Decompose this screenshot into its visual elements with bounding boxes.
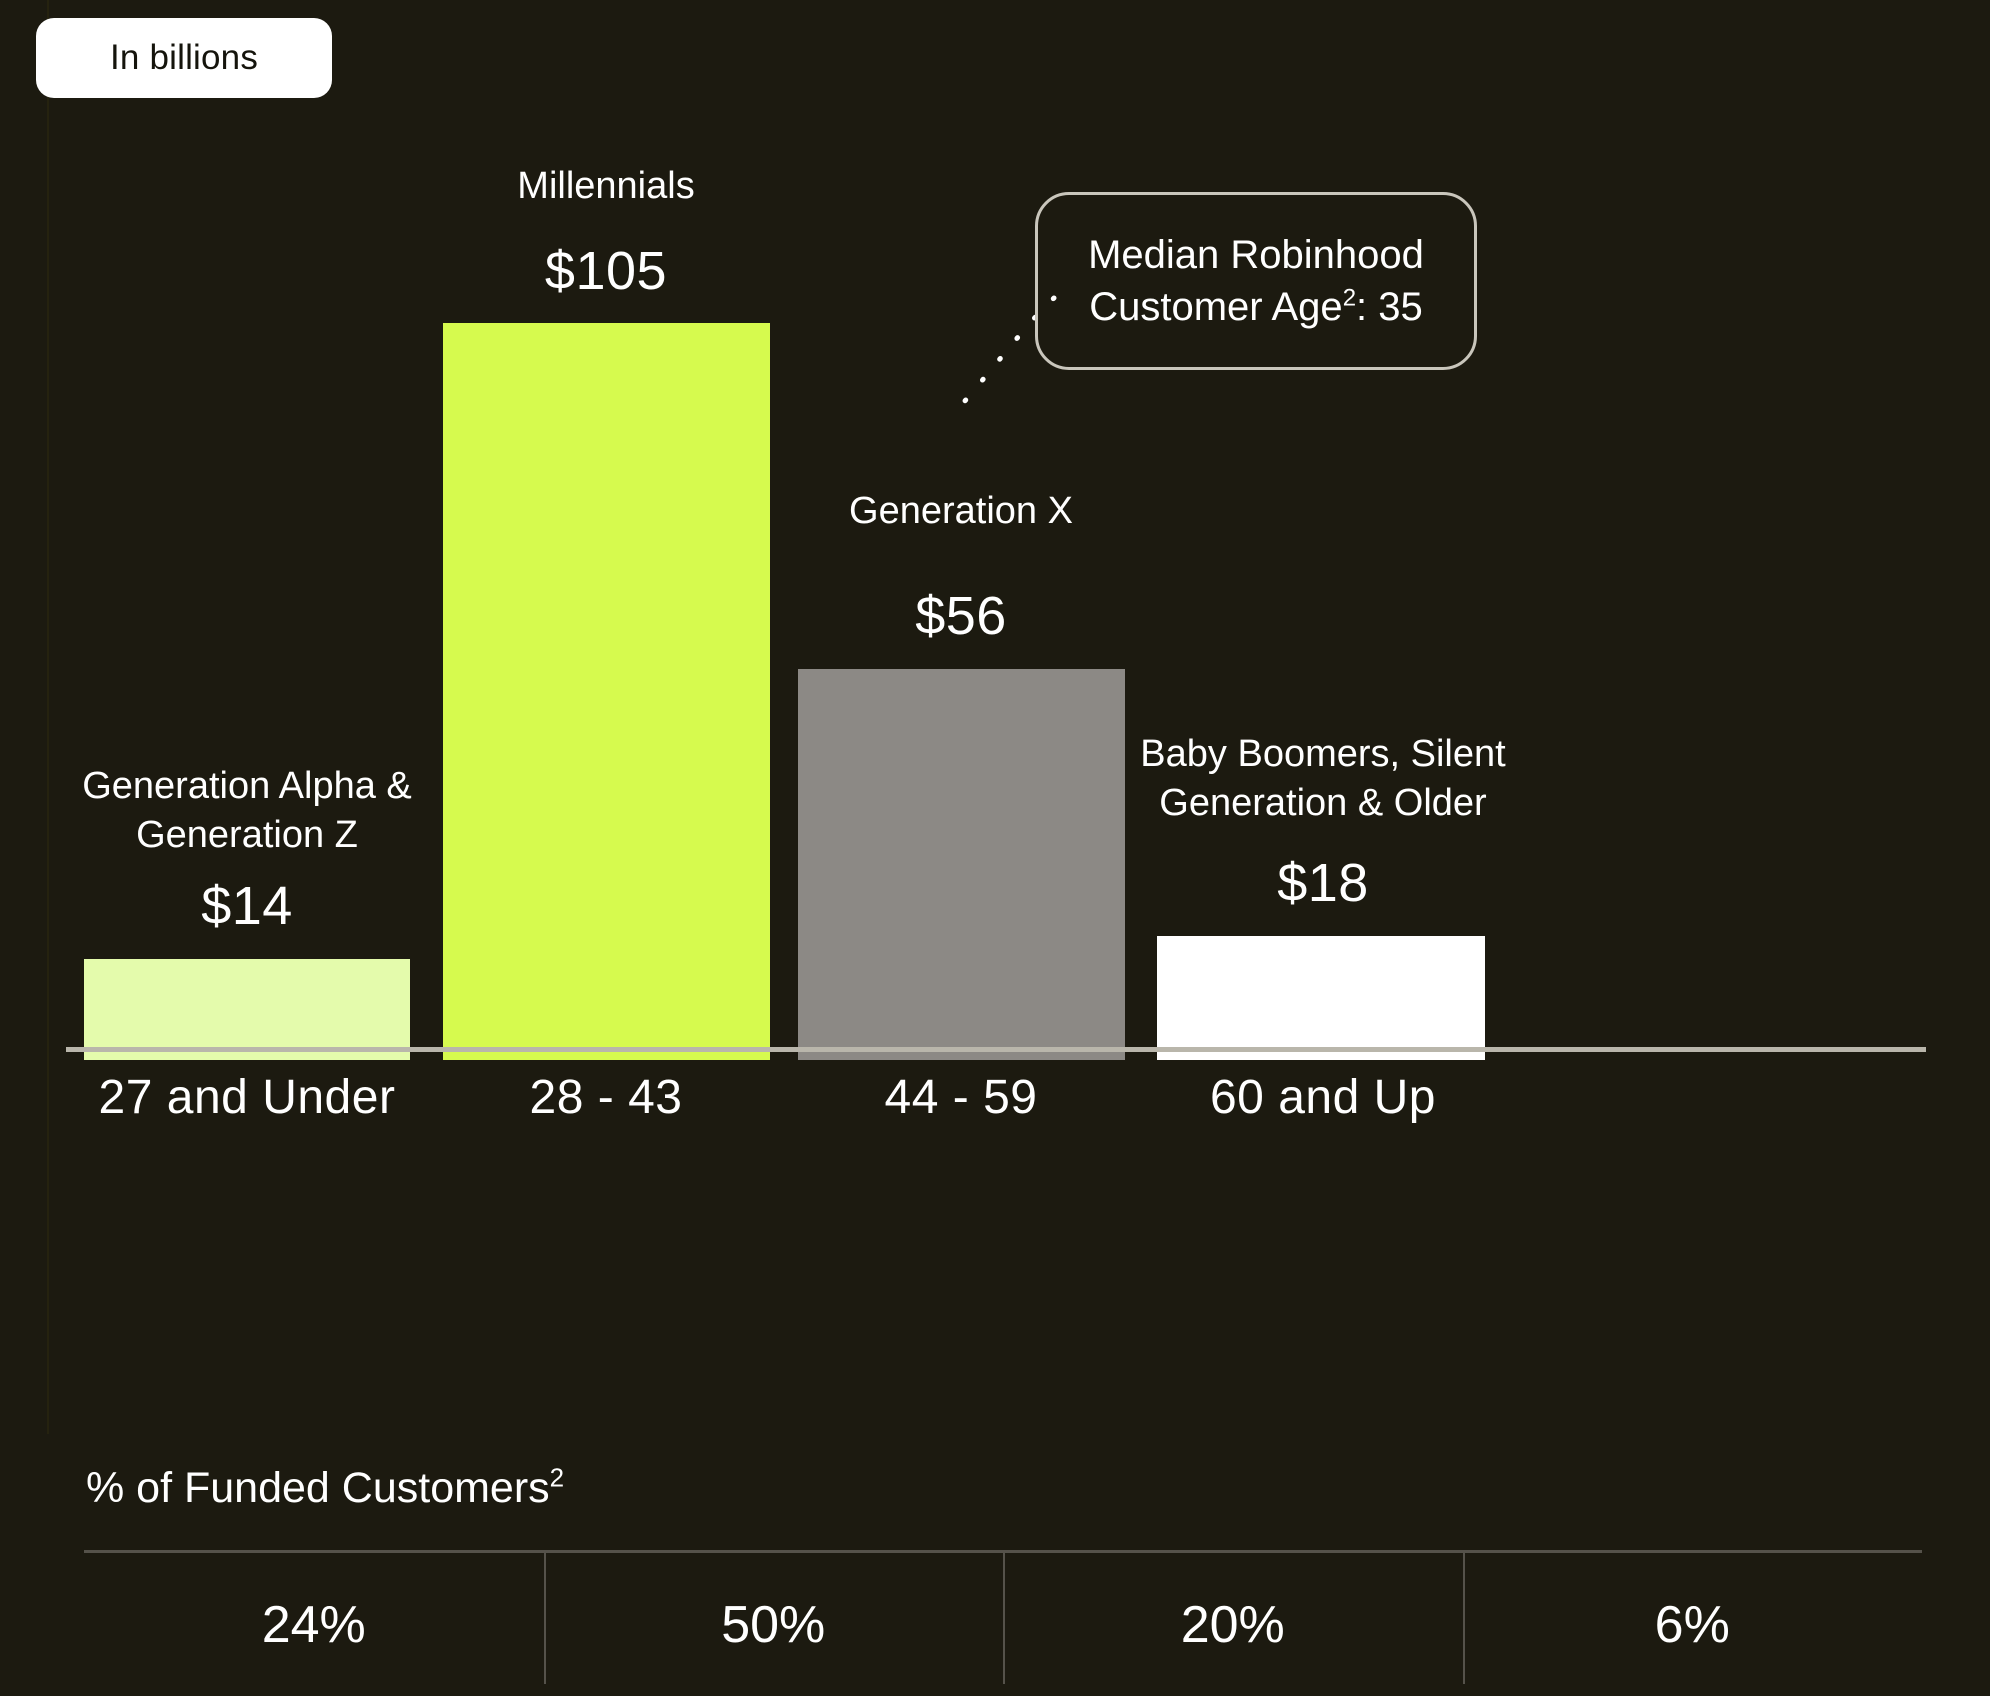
tick-label-28-43: 28 - 43	[406, 1070, 806, 1125]
funded-customers-title: % of Funded Customers2	[86, 1464, 564, 1513]
bar-27-and-under	[84, 959, 410, 1060]
value-label-27-and-under: $14	[47, 875, 447, 937]
x-axis-line	[66, 1047, 1926, 1052]
funded-percent-44-59: 20%	[1003, 1553, 1463, 1696]
bar-60-and-up	[1157, 936, 1485, 1060]
group-label-line-1: Baby Boomers, Silent	[1123, 730, 1523, 779]
funded-percent-27-and-under: 24%	[84, 1553, 544, 1696]
group-label-line-1: Millennials	[406, 162, 806, 211]
value-label-44-59: $56	[761, 585, 1161, 647]
tick-label-44-59: 44 - 59	[761, 1070, 1161, 1125]
chart-canvas: In billions Generation Alpha & Generatio…	[0, 0, 1990, 1696]
callout-line-1: Median Robinhood	[1088, 229, 1424, 281]
funded-percent-28-43: 50%	[544, 1553, 1004, 1696]
plot-area: Generation Alpha & Generation Z Millenni…	[0, 0, 1990, 1060]
group-label-27-and-under: Generation Alpha & Generation Z	[47, 762, 447, 860]
group-label-line-1: Generation X	[761, 487, 1161, 536]
group-label-28-43: Millennials	[406, 162, 806, 211]
group-label-60-and-up: Baby Boomers, Silent Generation & Older	[1123, 730, 1523, 828]
callout-line-2-prefix: Customer Age	[1089, 285, 1342, 329]
funded-customers-footnote-marker: 2	[550, 1463, 564, 1493]
funded-customers-section: % of Funded Customers2 24% 50% 20% 6%	[0, 1432, 1990, 1696]
group-label-line-1: Generation Alpha &	[47, 762, 447, 811]
callout-line-2-suffix: : 35	[1356, 285, 1423, 329]
value-label-60-and-up: $18	[1123, 852, 1523, 914]
callout-line-2: Customer Age2: 35	[1089, 281, 1423, 333]
bar-28-43	[443, 323, 770, 1060]
callout-footnote-marker: 2	[1343, 285, 1356, 312]
value-label-28-43: $105	[406, 240, 806, 302]
group-label-line-2: Generation & Older	[1123, 779, 1523, 828]
funded-customers-row: 24% 50% 20% 6%	[84, 1553, 1922, 1696]
funded-percent-60-and-up: 6%	[1463, 1553, 1923, 1696]
group-label-line-2: Generation Z	[47, 811, 447, 860]
bar-44-59	[798, 669, 1125, 1060]
funded-customers-title-text: % of Funded Customers	[86, 1464, 550, 1512]
tick-label-60-and-up: 60 and Up	[1123, 1070, 1523, 1125]
median-age-callout: Median Robinhood Customer Age2: 35	[1035, 192, 1477, 370]
group-label-44-59: Generation X	[761, 487, 1161, 536]
tick-label-27-and-under: 27 and Under	[47, 1070, 447, 1125]
